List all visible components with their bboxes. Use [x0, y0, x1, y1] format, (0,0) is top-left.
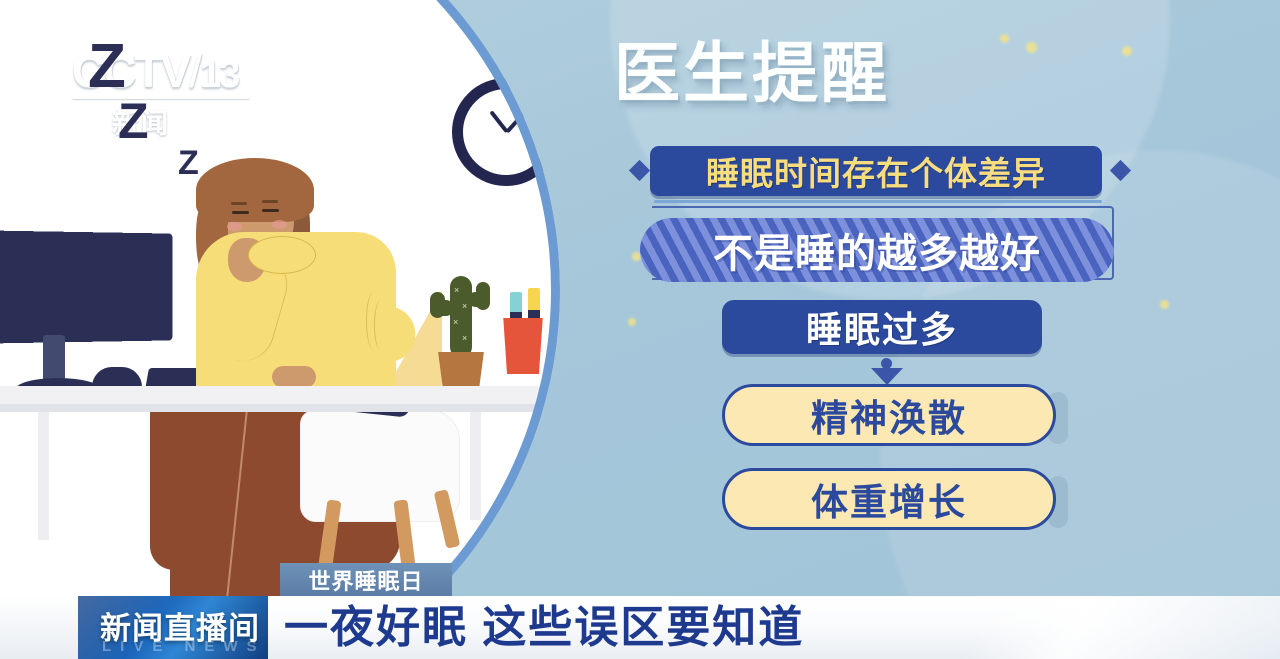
fact-pill-2-label: 不是睡的越多越好 — [713, 221, 1041, 279]
cause-pill[interactable]: 睡眠过多 — [722, 300, 1042, 354]
fact-pill-2[interactable]: 不是睡的越多越好 — [640, 218, 1114, 282]
topic-tag: 世界睡眠日 — [280, 563, 452, 596]
cause-pill-label: 睡眠过多 — [806, 301, 958, 353]
effect-pill-1-label: 精神涣散 — [811, 388, 967, 442]
topic-tag-label: 世界睡眠日 — [308, 564, 423, 596]
effect-pill-2[interactable]: 体重增长 — [722, 468, 1056, 530]
fact-pill-1-label: 睡眠时间存在个体差异 — [706, 147, 1046, 195]
program-name-en: LIVE NEWS — [102, 638, 266, 655]
broadcast-frame: × × × × — [0, 0, 1280, 659]
page-title: 医生提醒 — [614, 40, 890, 106]
headline-bar-left-strip — [0, 596, 78, 659]
arrow-down-icon — [871, 368, 903, 385]
effect-pill-2-label: 体重增长 — [811, 472, 967, 526]
star-decor — [1160, 300, 1169, 309]
star-decor — [1122, 46, 1132, 56]
effect-pill-1[interactable]: 精神涣散 — [722, 384, 1056, 446]
fact-pill-1[interactable]: 睡眠时间存在个体差异 — [650, 146, 1102, 196]
star-decor — [1026, 42, 1037, 53]
headline-bar-sheen — [860, 596, 1280, 659]
pill-1-underline — [654, 200, 1102, 203]
headline-text: 一夜好眠 这些误区要知道 — [284, 600, 804, 656]
star-decor — [628, 318, 636, 326]
star-decor — [1000, 34, 1009, 43]
program-logo: 新闻直播间 LIVE NEWS — [78, 596, 268, 659]
